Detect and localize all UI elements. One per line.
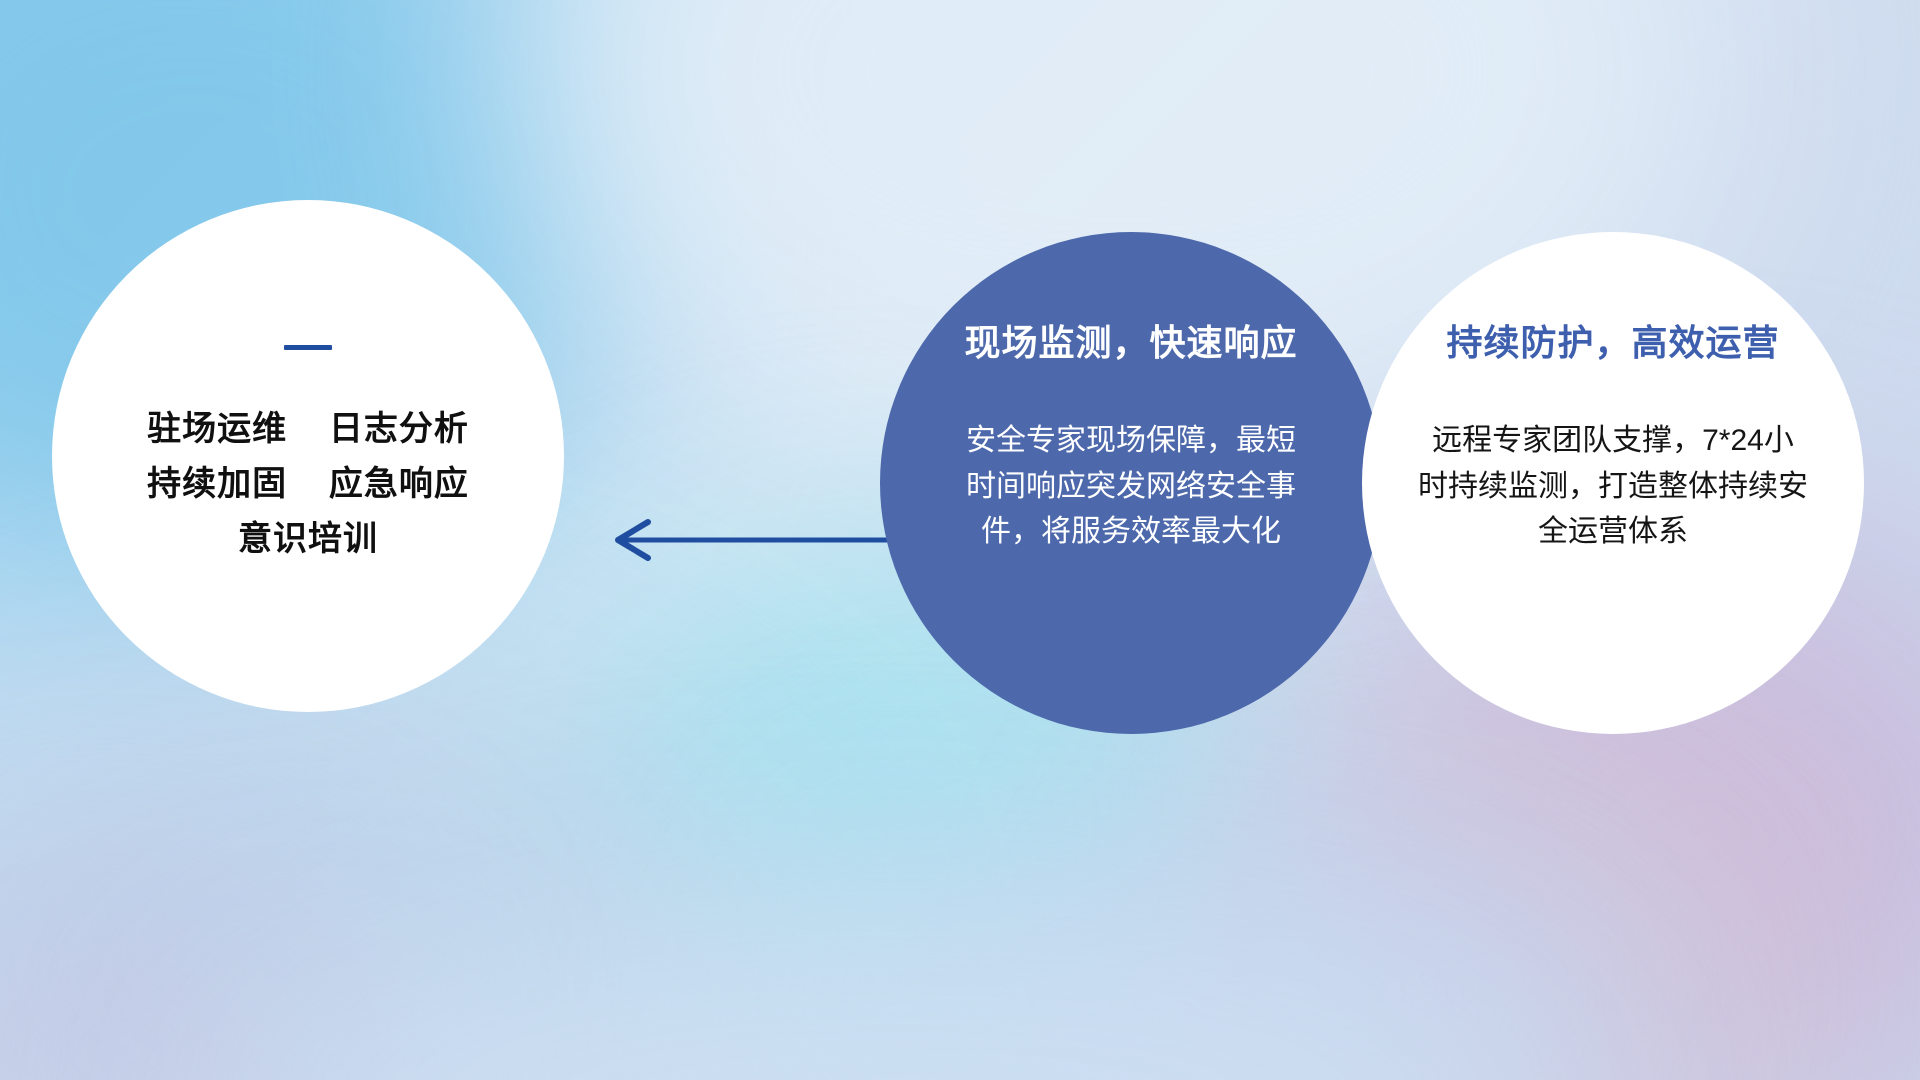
continuous-protection-circle[interactable]: 持续防护，高效运营 远程专家团队支撑，7*24小时持续监测，打造整体持续安全运营…: [1362, 232, 1864, 734]
onsite-monitoring-circle[interactable]: 现场监测，快速响应 安全专家现场保障，最短时间响应突发网络安全事件，将服务效率最…: [880, 232, 1382, 734]
left-arrow-connector: [600, 505, 900, 575]
slide-canvas: 驻场运维 日志分析 持续加固 应急响应 意识培训 现场监测，快速响应 安全专家现…: [0, 0, 1920, 1080]
continuous-protection-body: 远程专家团队支撑，7*24小时持续监测，打造整体持续安全运营体系: [1418, 418, 1808, 555]
service-capabilities-circle[interactable]: 驻场运维 日志分析 持续加固 应急响应 意识培训: [52, 200, 564, 712]
service-line-3: 意识培训: [238, 512, 378, 567]
onsite-monitoring-title: 现场监测，快速响应: [964, 314, 1297, 366]
onsite-monitoring-body: 安全专家现场保障，最短时间响应突发网络安全事件，将服务效率最大化: [966, 418, 1296, 555]
arrow-icon: [600, 505, 900, 575]
divider-rule: [284, 345, 332, 350]
service-line-2: 持续加固 应急响应: [147, 457, 469, 512]
continuous-protection-title: 持续防护，高效运营: [1446, 314, 1779, 366]
service-line-1: 驻场运维 日志分析: [147, 402, 469, 457]
